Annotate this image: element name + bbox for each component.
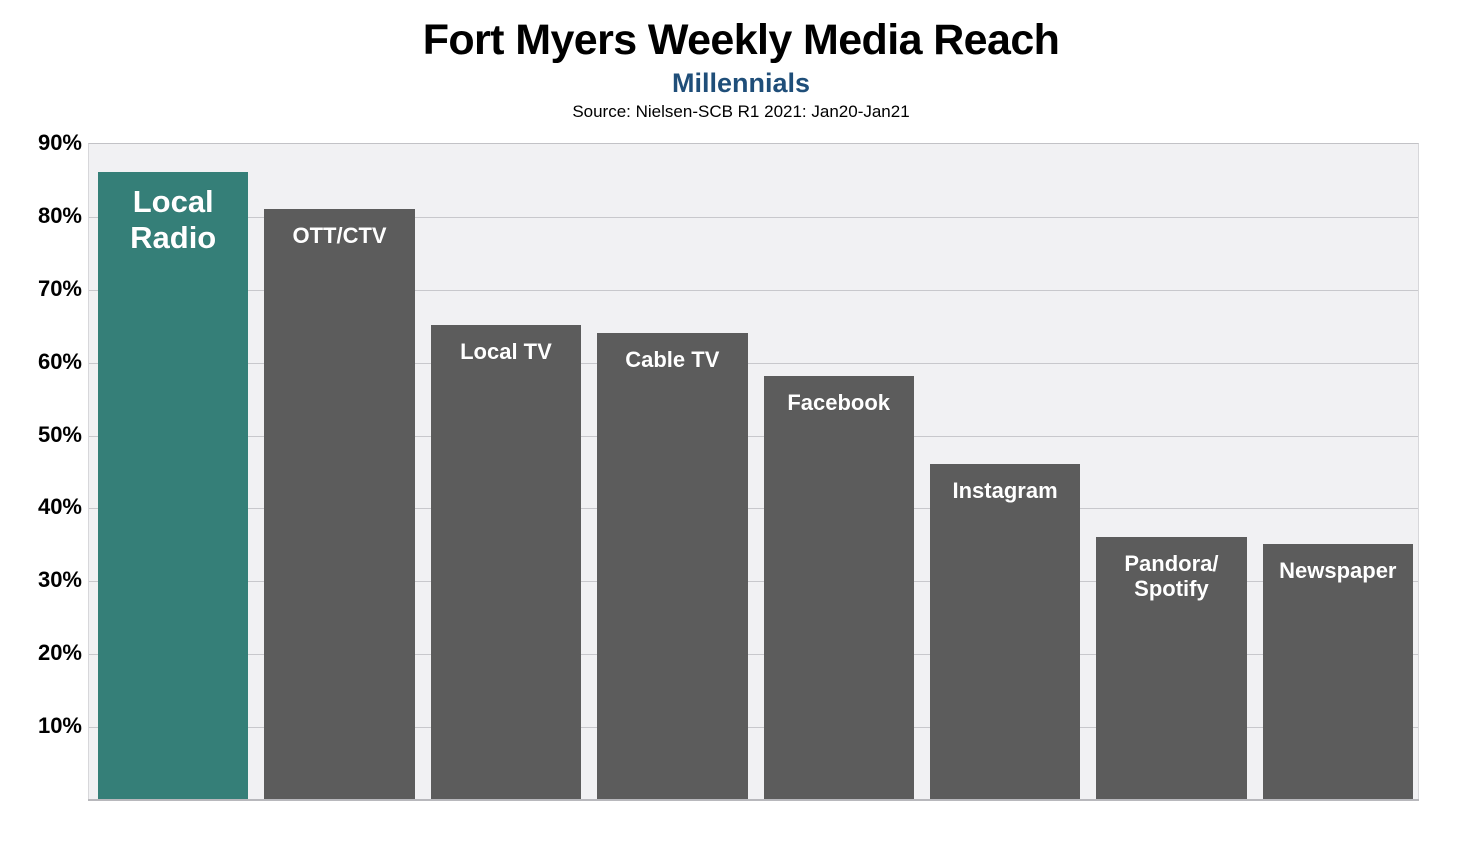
chart-header: Fort Myers Weekly Media Reach Millennial… (0, 18, 1482, 122)
bar-cable-tv: Cable TV (597, 333, 747, 799)
y-axis-tick-label: 30% (8, 567, 82, 593)
bar-local-tv: Local TV (431, 325, 581, 799)
y-axis: 90%80%70%60%50%40%30%20%10% (0, 0, 82, 852)
bar-label-line: Pandora/ (1124, 551, 1218, 576)
bar-label: Newspaper (1263, 558, 1413, 584)
bar-label: Facebook (764, 390, 914, 416)
bar-label: Cable TV (597, 347, 747, 373)
page-title: Fort Myers Weekly Media Reach (0, 18, 1482, 63)
bar-label-line: Spotify (1134, 576, 1209, 601)
bar-label: Pandora/Spotify (1096, 551, 1246, 602)
bar-ott-ctv: OTT/CTV (264, 209, 414, 799)
y-axis-tick-label: 60% (8, 349, 82, 375)
bar-label-line: Cable TV (625, 347, 719, 372)
bar-label: Local TV (431, 339, 581, 365)
y-axis-tick-label: 90% (8, 130, 82, 156)
bar-pandora-spotify: Pandora/Spotify (1096, 537, 1246, 799)
bar-newspaper: Newspaper (1263, 544, 1413, 799)
y-axis-tick-label: 70% (8, 276, 82, 302)
bar-label-line: Local (133, 184, 214, 219)
bar-label-line: Instagram (952, 478, 1057, 503)
chart-container: Fort Myers Weekly Media Reach Millennial… (0, 0, 1482, 852)
y-axis-tick-label: 20% (8, 640, 82, 666)
bar-label: LocalRadio (98, 184, 248, 256)
bar-label-line: Radio (130, 220, 216, 255)
bar-label-line: Local TV (460, 339, 552, 364)
bar-label: OTT/CTV (264, 223, 414, 249)
y-axis-tick-label: 40% (8, 494, 82, 520)
bar-facebook: Facebook (764, 376, 914, 799)
bar-label: Instagram (930, 478, 1080, 504)
y-axis-tick-label: 50% (8, 422, 82, 448)
bar-local-radio: LocalRadio (98, 172, 248, 799)
x-axis-baseline (88, 799, 1419, 801)
bar-label-line: Newspaper (1279, 558, 1396, 583)
chart-subtitle: Millennials (0, 69, 1482, 99)
bar-label-line: OTT/CTV (293, 223, 387, 248)
bar-label-line: Facebook (787, 390, 890, 415)
chart-source-note: Source: Nielsen-SCB R1 2021: Jan20-Jan21 (0, 103, 1482, 122)
bar-instagram: Instagram (930, 464, 1080, 799)
y-axis-tick-label: 80% (8, 203, 82, 229)
y-axis-tick-label: 10% (8, 713, 82, 739)
